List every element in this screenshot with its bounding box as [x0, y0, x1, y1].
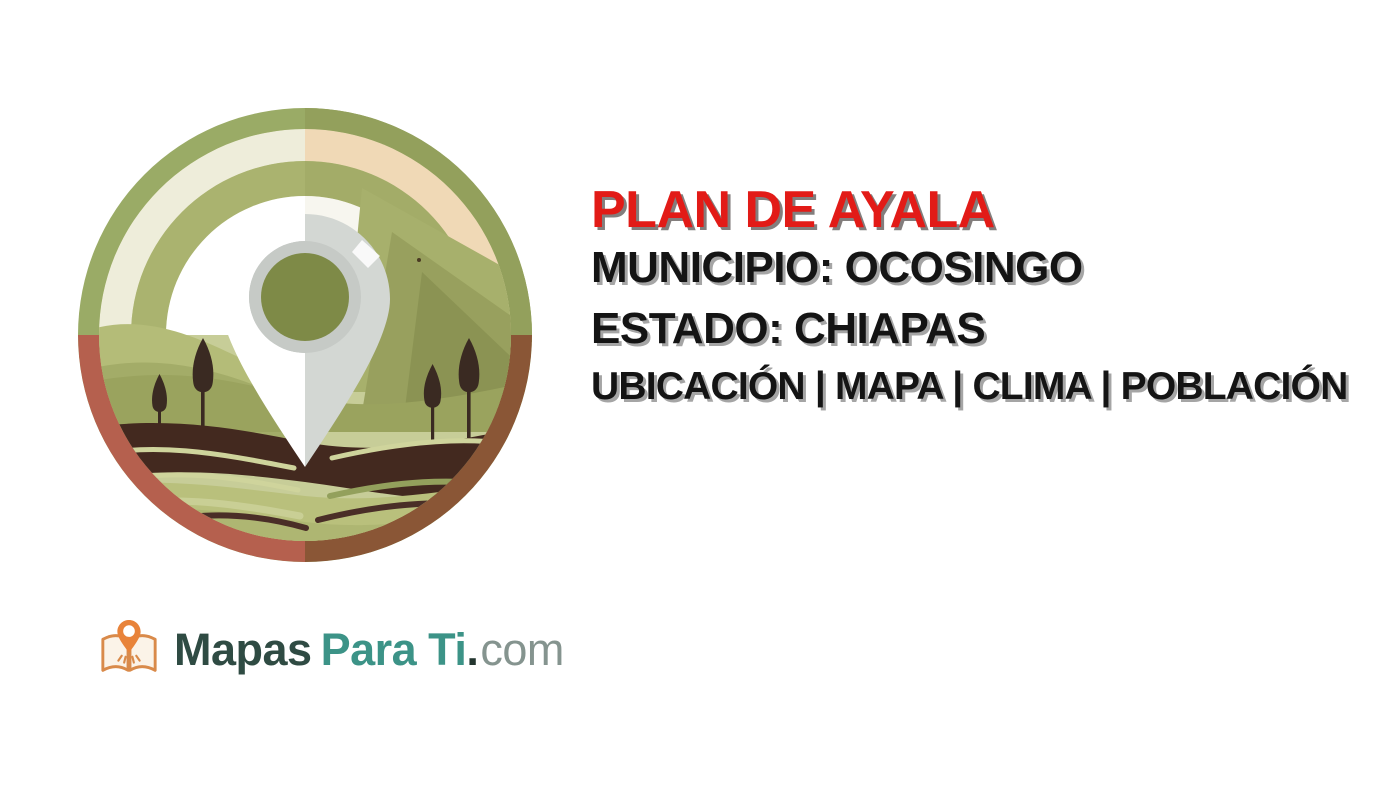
- emblem-illustration: [62, 92, 548, 578]
- open-book-pin-icon: [98, 618, 160, 680]
- brand-word-dot: .: [466, 627, 478, 672]
- brand-logo[interactable]: Mapas Para Ti . com: [98, 618, 564, 680]
- page-root: Mapas Para Ti . com PLAN DE AYALA MUNICI…: [0, 0, 1400, 786]
- section-links[interactable]: UBICACIÓN | MAPA | CLIMA | POBLACIÓN: [591, 366, 1391, 407]
- brand-word-mapas: Mapas: [174, 627, 312, 672]
- brand-word-parati: Para Ti: [321, 627, 467, 672]
- municipio-line: MUNICIPIO: OCOSINGO: [591, 245, 1391, 292]
- brand-wordmark: Mapas Para Ti . com: [174, 627, 564, 672]
- page-title: PLAN DE AYALA: [591, 183, 1391, 237]
- brand-word-com: com: [480, 627, 564, 672]
- info-block: PLAN DE AYALA MUNICIPIO: OCOSINGO ESTADO…: [591, 183, 1391, 408]
- map-pin-landscape-emblem: [62, 92, 548, 578]
- estado-line: ESTADO: CHIAPAS: [591, 306, 1391, 353]
